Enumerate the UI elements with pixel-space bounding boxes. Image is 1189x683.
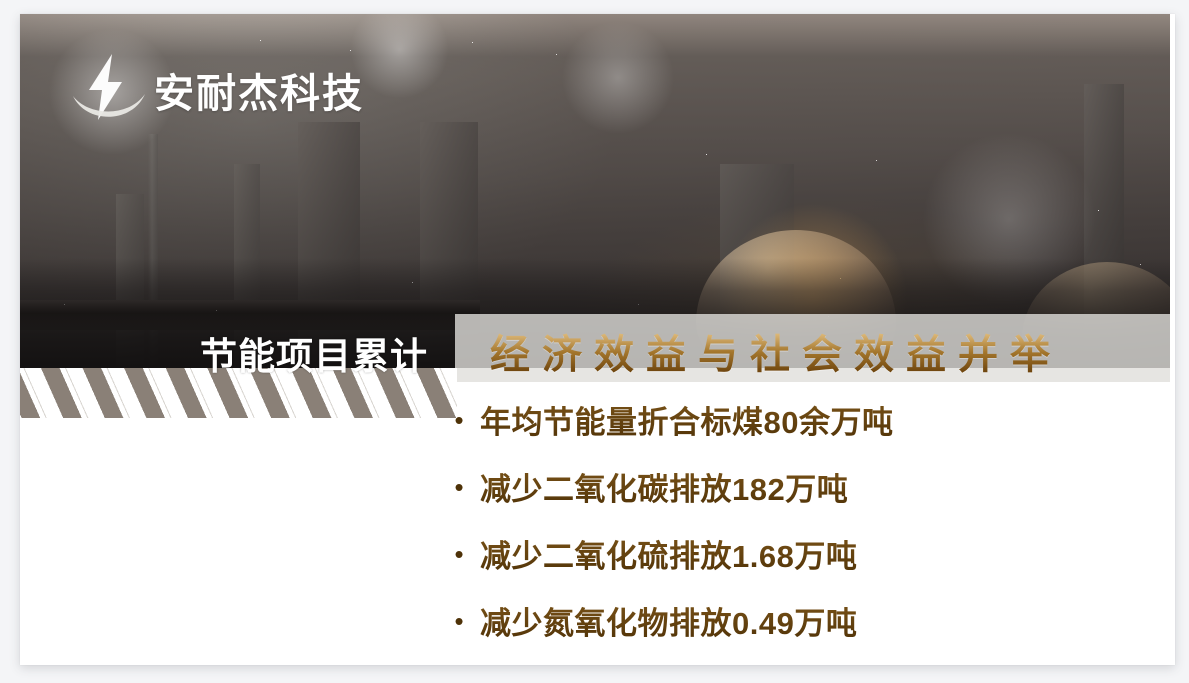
list-item: • 减少二氧化硫排放1.68万吨 <box>438 520 1158 587</box>
secondary-title: 节能项目累计 <box>200 326 428 380</box>
list-item-label: 年均节能量折合标煤80余万吨 <box>480 397 893 442</box>
list-item-label: 减少二氧化硫排放1.68万吨 <box>480 531 857 576</box>
bullet-marker-icon: • <box>438 608 480 634</box>
page-title: 经济效益与社会效益并举 <box>490 322 1180 380</box>
achievement-list: • 年均节能量折合标煤80余万吨 • 减少二氧化碳排放182万吨 • 减少二氧化… <box>438 386 1158 654</box>
slide-canvas: 安耐杰科技 节能项目累计 经济效益与社会效益并举 • 年均节能量折合标煤80余万… <box>20 14 1175 665</box>
bullet-marker-icon: • <box>438 474 480 500</box>
list-item-label: 减少二氧化碳排放182万吨 <box>480 464 848 509</box>
brand-logo: 安耐杰科技 <box>72 52 364 124</box>
list-item: • 年均节能量折合标煤80余万吨 <box>438 386 1158 453</box>
list-item: • 减少二氧化碳排放182万吨 <box>438 453 1158 520</box>
lightning-bolt-svg <box>72 52 146 124</box>
brand-name: 安耐杰科技 <box>154 61 364 119</box>
list-item-label: 减少氮氧化物排放0.49万吨 <box>480 598 857 643</box>
lightning-bolt-icon <box>72 52 146 124</box>
list-item: • 减少氮氧化物排放0.49万吨 <box>438 587 1158 654</box>
bullet-marker-icon: • <box>438 541 480 567</box>
